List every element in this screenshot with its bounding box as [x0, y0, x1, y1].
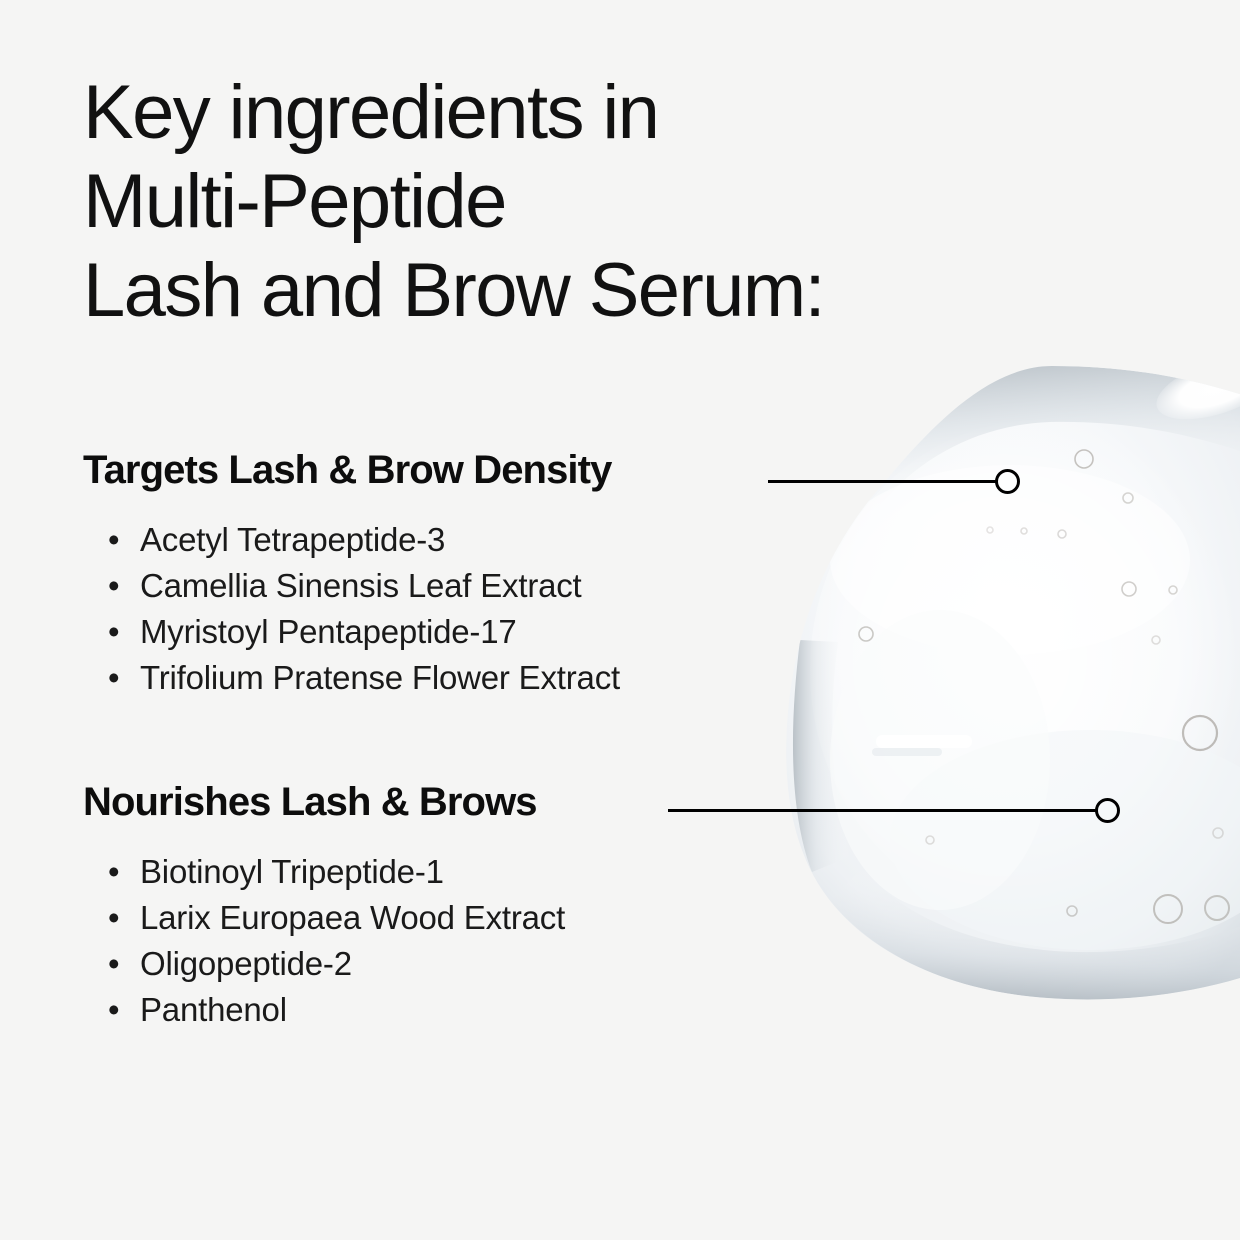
- bullet-icon: •: [108, 941, 140, 987]
- ingredient-label: Panthenol: [140, 987, 287, 1033]
- list-item: • Myristoyl Pentapeptide-17: [108, 609, 620, 655]
- ingredient-label: Myristoyl Pentapeptide-17: [140, 609, 517, 655]
- callout-connector-targets-density: [768, 468, 1020, 494]
- bullet-icon: •: [108, 609, 140, 655]
- ingredient-section-nourishes: Nourishes Lash & Brows • Biotinoyl Tripe…: [83, 779, 565, 1033]
- list-item: • Biotinoyl Tripeptide-1: [108, 849, 565, 895]
- list-item: • Larix Europaea Wood Extract: [108, 895, 565, 941]
- ingredient-label: Oligopeptide-2: [140, 941, 352, 987]
- gel-highlight: [1149, 344, 1240, 432]
- list-item: • Panthenol: [108, 987, 565, 1033]
- ingredient-section-targets-density: Targets Lash & Brow Density • Acetyl Tet…: [83, 447, 620, 701]
- list-item: • Camellia Sinensis Leaf Extract: [108, 563, 620, 609]
- ingredient-list-targets-density: • Acetyl Tetrapeptide-3 • Camellia Sinen…: [108, 517, 620, 701]
- bullet-icon: •: [108, 895, 140, 941]
- gel-bubbles: [859, 450, 1229, 923]
- list-item: • Acetyl Tetrapeptide-3: [108, 517, 620, 563]
- bullet-icon: •: [108, 849, 140, 895]
- bullet-icon: •: [108, 517, 140, 563]
- ingredient-label: Trifolium Pratense Flower Extract: [140, 655, 620, 701]
- page-title: Key ingredients in Multi-Peptide Lash an…: [83, 68, 824, 335]
- connector-circle-icon: [1095, 798, 1120, 823]
- bullet-icon: •: [108, 655, 140, 701]
- connector-line-icon: [668, 809, 1097, 812]
- list-item: • Oligopeptide-2: [108, 941, 565, 987]
- bullet-icon: •: [108, 563, 140, 609]
- list-item: • Trifolium Pratense Flower Extract: [108, 655, 620, 701]
- connector-circle-icon: [995, 469, 1020, 494]
- bullet-icon: •: [108, 987, 140, 1033]
- ingredient-label: Camellia Sinensis Leaf Extract: [140, 563, 582, 609]
- ingredient-label: Larix Europaea Wood Extract: [140, 895, 565, 941]
- gel-blob: [786, 344, 1240, 999]
- ingredient-label: Acetyl Tetrapeptide-3: [140, 517, 445, 563]
- connector-line-icon: [768, 480, 997, 483]
- section-header-nourishes: Nourishes Lash & Brows: [83, 779, 565, 825]
- ingredient-list-nourishes: • Biotinoyl Tripeptide-1 • Larix Europae…: [108, 849, 565, 1033]
- ingredient-label: Biotinoyl Tripeptide-1: [140, 849, 444, 895]
- callout-connector-nourishes: [668, 797, 1120, 823]
- section-header-targets-density: Targets Lash & Brow Density: [83, 447, 620, 493]
